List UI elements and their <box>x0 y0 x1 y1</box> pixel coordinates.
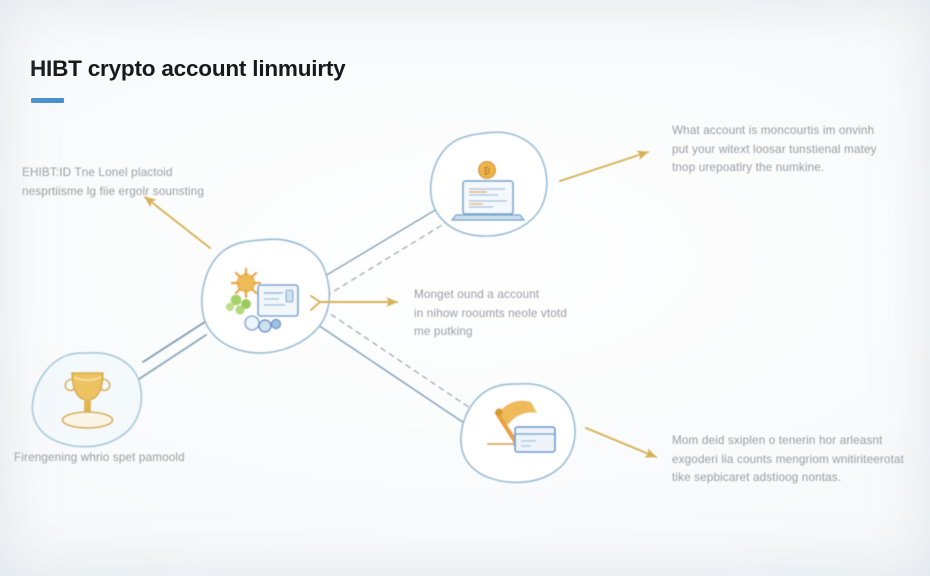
title-accent-rule <box>31 98 64 103</box>
arrow-to-top-right-note <box>560 152 648 181</box>
note-top-left: EHIBT:ID Tne Lonel plactoid nesprtiisme … <box>22 164 237 201</box>
note-bottom-right: Mom deid sxiplen o tenerin hor arleasnt … <box>672 432 912 488</box>
note-bottom-left: Firengening whrio spet pamoold <box>14 449 229 468</box>
page-title: HIBT crypto account linmuirty <box>30 56 345 82</box>
note-top-right: What account is moncourtis im onvinh put… <box>672 122 897 178</box>
arrow-elbow-middle <box>311 296 320 310</box>
note-middle: Monget ound a account in nihow rooumts n… <box>414 286 619 342</box>
arrow-to-top-left-note <box>145 197 210 248</box>
arrow-to-bottom-right-note <box>586 428 656 457</box>
diagram-canvas: HIBT crypto account linmuirty <box>0 0 930 576</box>
